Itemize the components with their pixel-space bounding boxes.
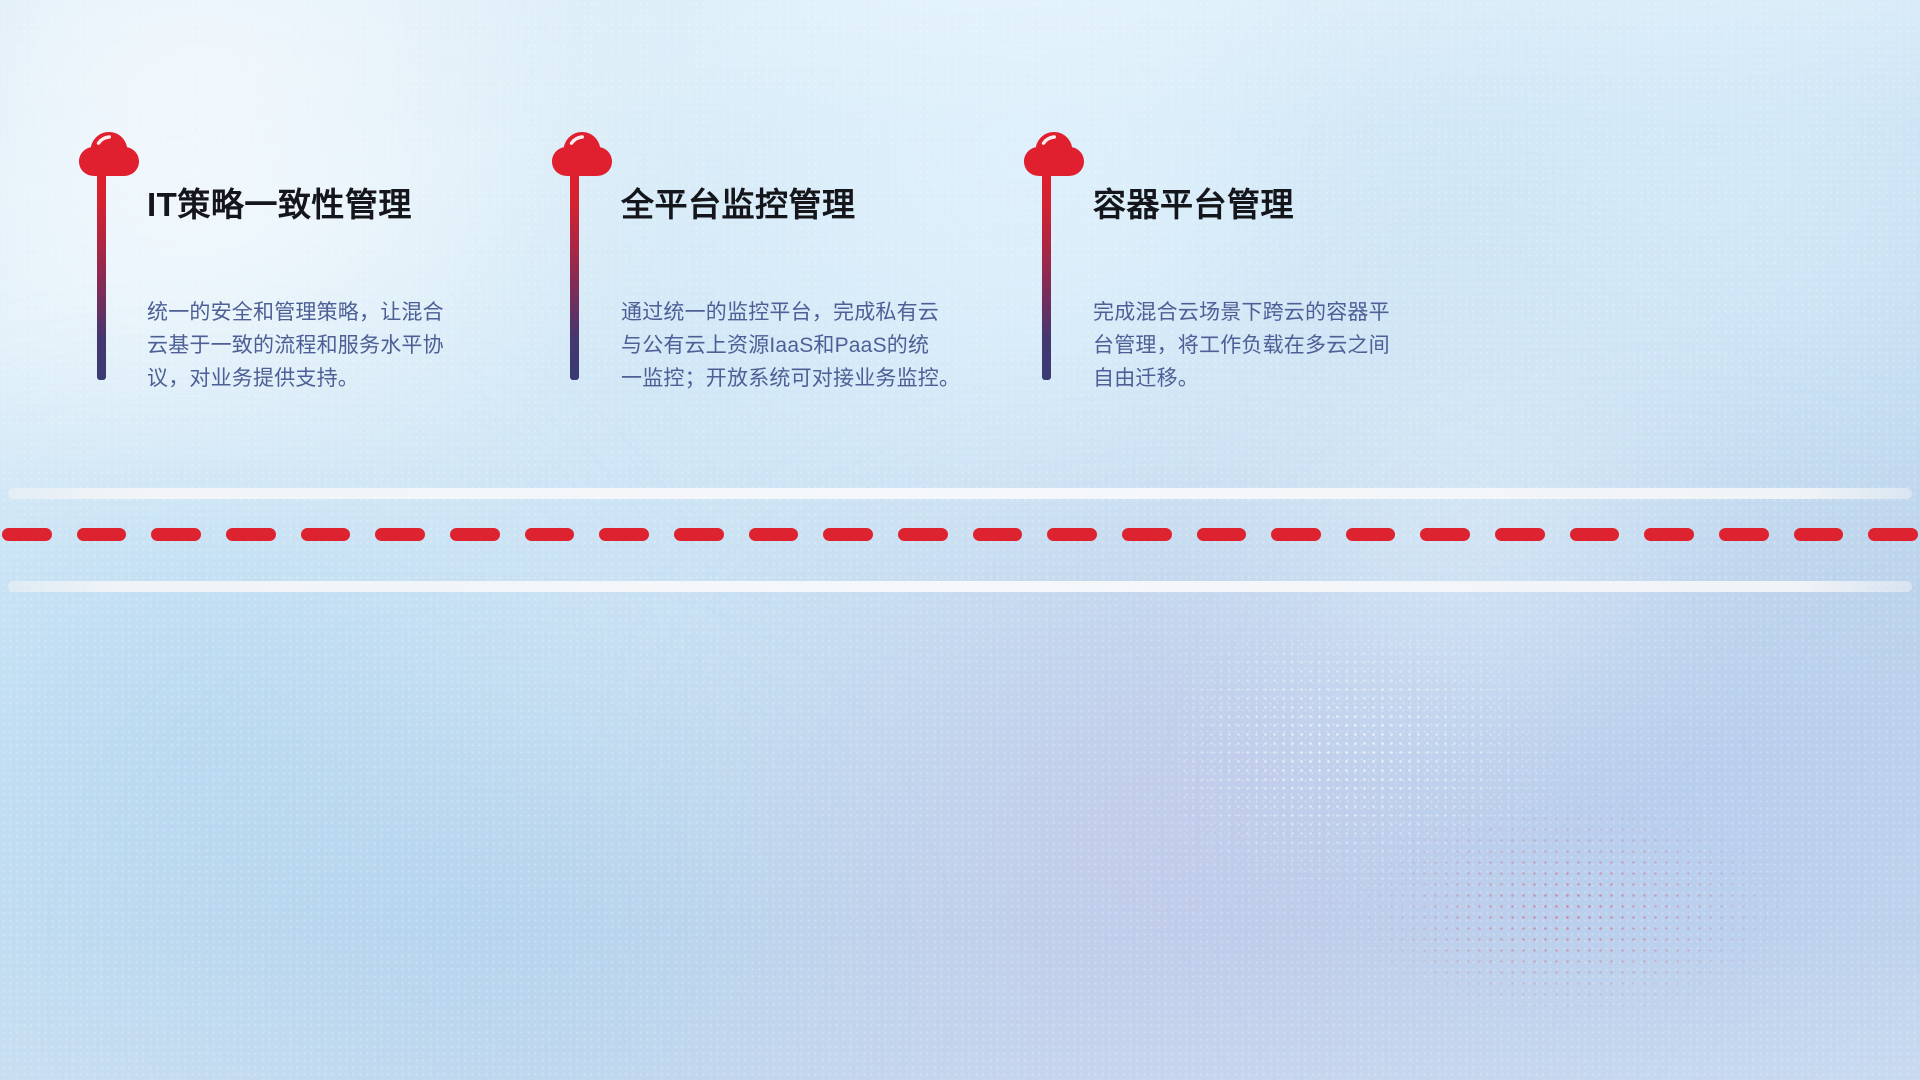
feature-description: 通过统一的监控平台，完成私有云 与公有云上资源IaaS和PaaS的统 一监控；开…	[621, 296, 981, 395]
section-divider	[0, 488, 1920, 592]
feature-card-unified-security[interactable]: 统一的安全管控 对于混合云场景下的安全产品 （防火墙、WAF、堡垒机等）进 行统…	[0, 592, 575, 1080]
cloud-icon	[551, 130, 613, 178]
top-feature-row: IT策略一致性管理 统一的安全和管理策略，让混合 云基于一致的流程和服务水平协 …	[0, 0, 1920, 488]
divider-dash	[226, 528, 276, 541]
divider-dash	[1644, 528, 1694, 541]
divider-dash	[1197, 528, 1247, 541]
divider-dash	[1719, 528, 1769, 541]
divider-dash	[375, 528, 425, 541]
divider-dash	[973, 528, 1023, 541]
feature-description: 统一的安全和管理策略，让混合 云基于一致的流程和服务水平协 议，对业务提供支持。	[147, 296, 497, 395]
divider-dash	[599, 528, 649, 541]
divider-dash	[1271, 528, 1321, 541]
feature-card-platform-monitoring[interactable]: 全平台监控管理 通过统一的监控平台，完成私有云 与公有云上资源IaaS和PaaS…	[585, 0, 1170, 488]
cloud-icon	[1023, 130, 1085, 178]
divider-bar-top	[8, 488, 1912, 499]
divider-dash	[1495, 528, 1545, 541]
divider-dash	[1794, 528, 1844, 541]
divider-dash	[1346, 528, 1396, 541]
feature-card-devops[interactable]: DevOps 通过自有混合云DevOps平台， 实现多云间的持续集成与持续 交付…	[1150, 592, 1725, 1080]
feature-card-business-continuity[interactable]: 业务连续性管理 根据业务连续性要求，设计容灾 和备份计划，将关键系统备份至 线上…	[575, 592, 1150, 1080]
bottom-feature-row: 统一的安全管控 对于混合云场景下的安全产品 （防火墙、WAF、堡垒机等）进 行统…	[0, 592, 1920, 1080]
divider-dash	[674, 528, 724, 541]
divider-dash	[1420, 528, 1470, 541]
connector-line	[570, 168, 579, 380]
divider-dash	[1868, 528, 1918, 541]
connector-line	[97, 168, 106, 380]
divider-dash	[749, 528, 799, 541]
feature-card-container-platform[interactable]: 容器平台管理 完成混合云场景下跨云的容器平 台管理，将工作负载在多云之间 自由迁…	[1170, 0, 1755, 488]
feature-card-it-policy[interactable]: IT策略一致性管理 统一的安全和管理策略，让混合 云基于一致的流程和服务水平协 …	[0, 0, 585, 488]
divider-dash	[1122, 528, 1172, 541]
divider-dash	[1570, 528, 1620, 541]
divider-dash	[525, 528, 575, 541]
divider-dash	[1047, 528, 1097, 541]
connector-line	[1042, 168, 1051, 380]
divider-bar-bottom	[8, 581, 1912, 592]
divider-dash	[898, 528, 948, 541]
feature-title: IT策略一致性管理	[147, 178, 412, 226]
feature-title: 全平台监控管理	[621, 178, 856, 226]
feature-description: 完成混合云场景下跨云的容器平 台管理，将工作负载在多云之间 自由迁移。	[1093, 296, 1445, 395]
feature-title: 容器平台管理	[1093, 178, 1294, 226]
cloud-icon	[78, 130, 140, 178]
divider-dashed-line	[0, 528, 1920, 541]
divider-dash	[450, 528, 500, 541]
divider-dash	[301, 528, 351, 541]
divider-dash	[151, 528, 201, 541]
divider-dash	[77, 528, 127, 541]
divider-dash	[823, 528, 873, 541]
divider-dash	[2, 528, 52, 541]
